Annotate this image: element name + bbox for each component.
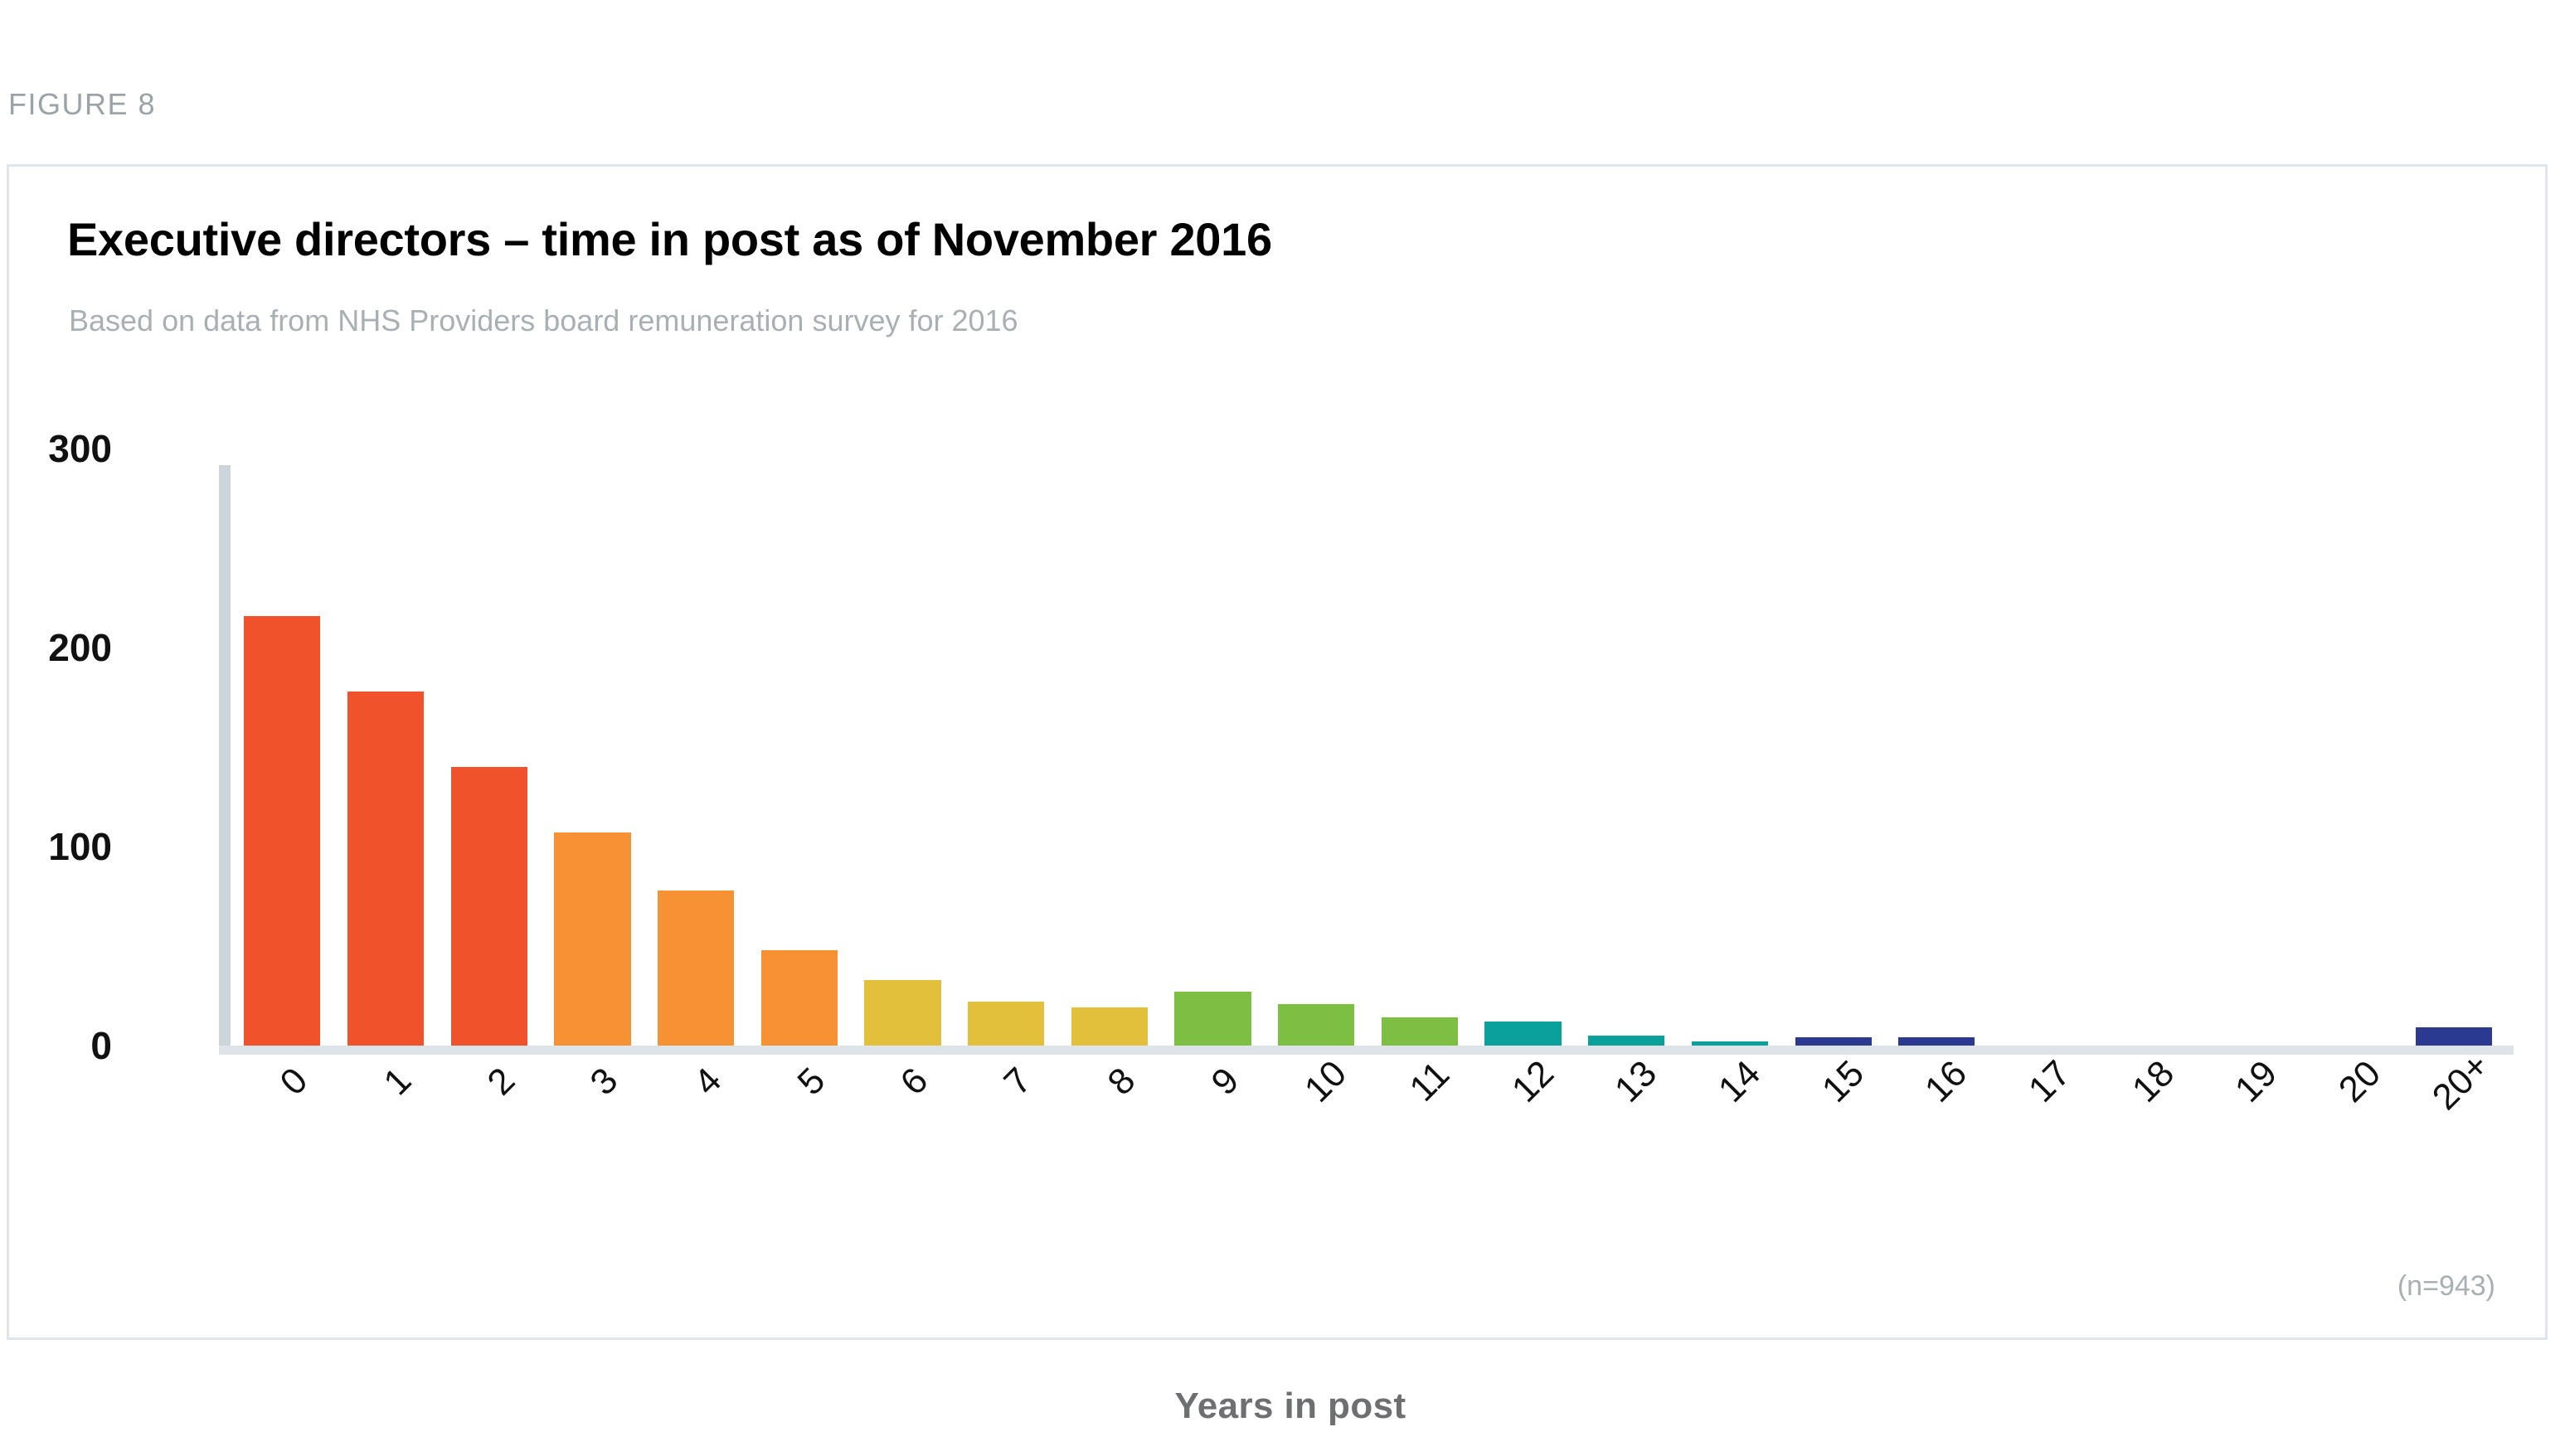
x-tick-slot: 2: [437, 1062, 541, 1162]
bar-slot: [1575, 449, 1678, 1046]
x-tick-slot: 11: [1368, 1062, 1472, 1162]
x-axis-tick-label: 0: [273, 1060, 317, 1104]
x-axis-tick-label: 20: [2331, 1053, 2389, 1111]
x-axis-tick-label: 5: [789, 1060, 833, 1104]
chart-subtitle: Based on data from NHS Providers board r…: [69, 303, 1018, 338]
bar-series: [231, 449, 2505, 1046]
x-tick-slot: 19: [2195, 1062, 2299, 1162]
y-axis-line: [219, 465, 231, 1046]
x-axis-tick-labels: 0123456789101112131415161718192020+: [231, 1062, 2505, 1162]
chart-plot-area: 0100200300 01234567891011121314151617181…: [67, 449, 2514, 1046]
x-tick-slot: 15: [1781, 1062, 1885, 1162]
x-axis-title: Years in post: [67, 1386, 2514, 1427]
bar-slot: [747, 449, 851, 1046]
x-axis-tick-label: 15: [1814, 1053, 1872, 1111]
sample-size-note: (n=943): [2397, 1270, 2495, 1303]
x-tick-slot: 17: [1989, 1062, 2092, 1162]
x-axis-tick-label: 19: [2227, 1053, 2286, 1111]
x-axis-tick-label: 6: [893, 1060, 937, 1104]
x-tick-slot: 9: [1161, 1062, 1265, 1162]
bar-slot: [1058, 449, 1162, 1046]
x-tick-slot: 10: [1265, 1062, 1368, 1162]
x-tick-slot: 0: [231, 1062, 334, 1162]
x-axis-tick-label: 10: [1297, 1053, 1355, 1111]
x-tick-slot: 6: [851, 1062, 955, 1162]
x-tick-slot: 13: [1575, 1062, 1678, 1162]
y-axis-tick-label: 200: [0, 625, 112, 670]
bar-slot: [1989, 449, 2092, 1046]
chart-title: Executive directors – time in post as of…: [67, 212, 1272, 266]
x-axis-tick-label: 13: [1607, 1053, 1665, 1111]
x-axis-tick-label: 1: [376, 1060, 420, 1104]
bar-slot: [1161, 449, 1265, 1046]
bar-slot: [1678, 449, 1782, 1046]
bar[interactable]: [554, 832, 630, 1046]
y-axis-tick-label: 300: [0, 426, 112, 471]
x-tick-slot: 8: [1058, 1062, 1162, 1162]
x-axis-tick-label: 20+: [2424, 1046, 2497, 1119]
bar-slot: [2299, 449, 2402, 1046]
bar[interactable]: [451, 767, 527, 1046]
bar-slot: [231, 449, 334, 1046]
x-tick-slot: 5: [747, 1062, 851, 1162]
bar[interactable]: [968, 1002, 1044, 1046]
x-tick-slot: 12: [1471, 1062, 1575, 1162]
x-axis-tick-label: 2: [479, 1060, 523, 1104]
x-axis-tick-label: 3: [583, 1060, 627, 1104]
x-axis-tick-label: 12: [1504, 1053, 1562, 1111]
bar-slot: [334, 449, 438, 1046]
x-axis-tick-label: 11: [1402, 1054, 1458, 1110]
bar[interactable]: [864, 980, 940, 1046]
bar[interactable]: [244, 616, 320, 1046]
x-axis-tick-label: 18: [2125, 1053, 2183, 1111]
x-axis-tick-label: 17: [2021, 1053, 2079, 1111]
bar[interactable]: [1174, 992, 1251, 1046]
x-axis-tick-label: 4: [686, 1060, 730, 1104]
x-tick-slot: 4: [644, 1062, 748, 1162]
y-axis-tick-label: 100: [0, 824, 112, 869]
x-axis-tick-label: 9: [1203, 1060, 1247, 1104]
bar[interactable]: [1382, 1017, 1458, 1046]
bar-slot: [1368, 449, 1472, 1046]
bar[interactable]: [1588, 1036, 1664, 1046]
x-axis-line: [219, 1046, 2514, 1055]
bar-slot: [1885, 449, 1989, 1046]
x-axis-tick-label: 8: [1100, 1060, 1144, 1104]
bar-slot: [644, 449, 748, 1046]
bar[interactable]: [1795, 1037, 1872, 1046]
x-axis-tick-label: 14: [1711, 1053, 1769, 1111]
figure-card: Executive directors – time in post as of…: [7, 164, 2548, 1340]
bar[interactable]: [1484, 1022, 1561, 1046]
bar[interactable]: [1071, 1007, 1148, 1046]
x-axis-tick-label: 7: [997, 1060, 1041, 1104]
x-tick-slot: 1: [334, 1062, 438, 1162]
x-tick-slot: 20: [2299, 1062, 2402, 1162]
y-axis-tick-label: 0: [0, 1023, 112, 1068]
x-tick-slot: 7: [955, 1062, 1058, 1162]
bar-slot: [2195, 449, 2299, 1046]
bar[interactable]: [761, 950, 838, 1046]
figure-number-label: FIGURE 8: [8, 87, 156, 122]
x-tick-slot: 20+: [2402, 1062, 2505, 1162]
x-axis-tick-label: 16: [1917, 1053, 1975, 1111]
bar-slot: [1265, 449, 1368, 1046]
bar-slot: [437, 449, 541, 1046]
bar-slot: [1781, 449, 1885, 1046]
bar-slot: [851, 449, 955, 1046]
bar-slot: [2402, 449, 2505, 1046]
bar[interactable]: [658, 891, 734, 1046]
bar[interactable]: [1898, 1037, 1975, 1046]
bar-slot: [955, 449, 1058, 1046]
x-tick-slot: 18: [2091, 1062, 2195, 1162]
bar[interactable]: [347, 692, 424, 1046]
bar[interactable]: [2416, 1027, 2492, 1046]
bar-slot: [2091, 449, 2195, 1046]
bar-slot: [541, 449, 644, 1046]
x-tick-slot: 14: [1678, 1062, 1782, 1162]
bar-slot: [1471, 449, 1575, 1046]
x-tick-slot: 3: [541, 1062, 644, 1162]
x-tick-slot: 16: [1885, 1062, 1989, 1162]
bar[interactable]: [1278, 1004, 1354, 1046]
